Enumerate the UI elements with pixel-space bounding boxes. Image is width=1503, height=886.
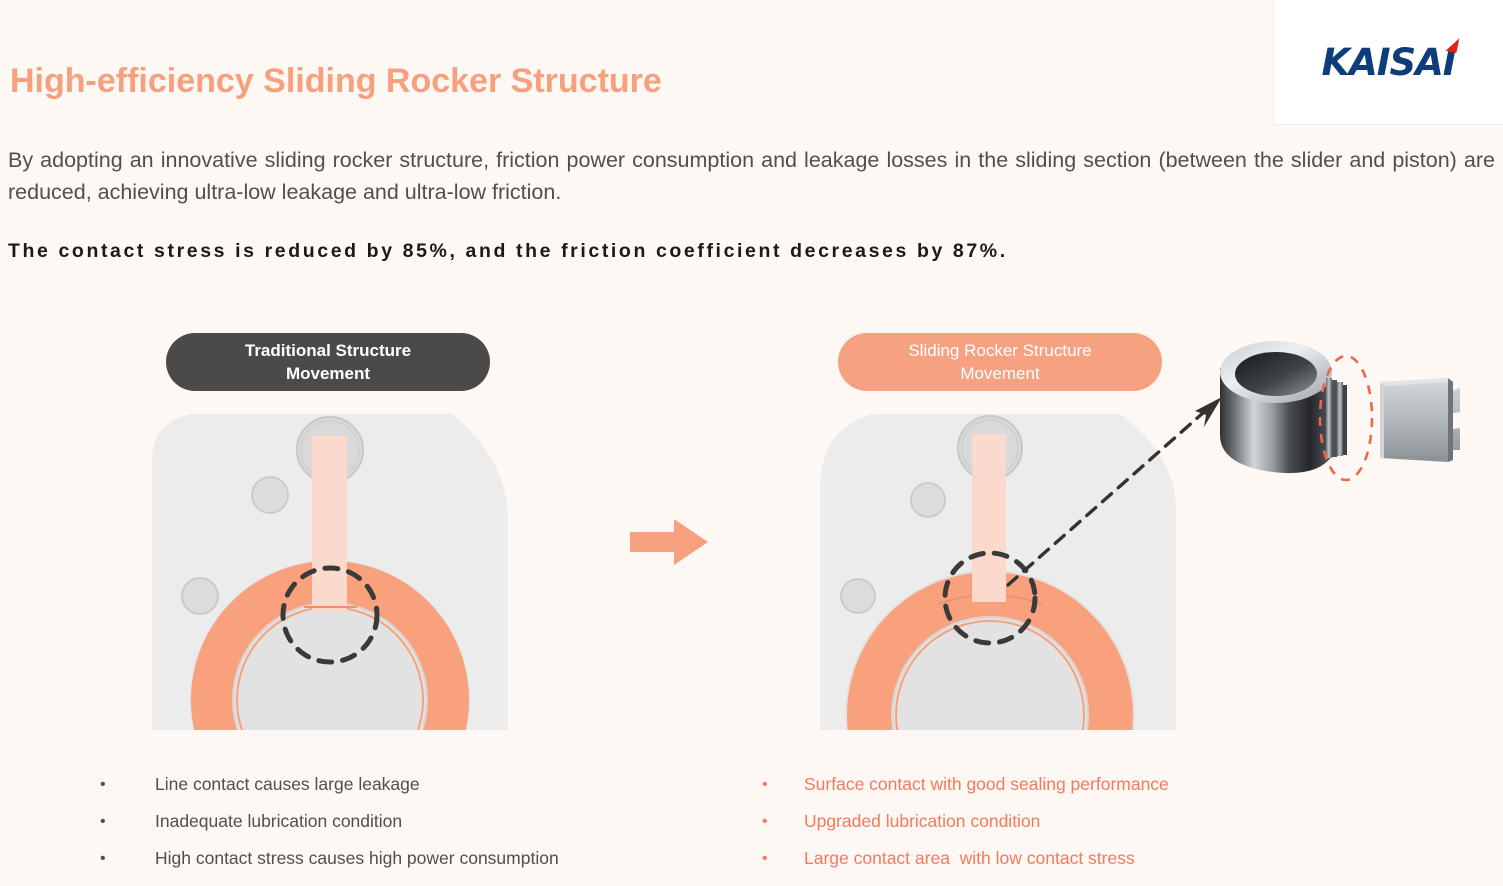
- bolt-hole-2: [841, 579, 875, 613]
- groove-feature: [1326, 378, 1347, 458]
- list-item-text: Surface contact with good sealing perfor…: [804, 766, 1169, 803]
- label-sliding-rocker-structure-text: Sliding Rocker Structure Movement: [908, 339, 1091, 385]
- list-item: • Upgraded lubrication condition: [762, 803, 1169, 840]
- page-title: High-efficiency Sliding Rocker Structure: [10, 62, 662, 101]
- list-item-text: Large contact area with low contact stre…: [804, 840, 1135, 877]
- bullet-marker-icon: •: [100, 766, 155, 803]
- logo-text: KAISAI: [1321, 41, 1455, 84]
- key-claim-text: The contact stress is reduced by 85%, an…: [8, 240, 1008, 263]
- label-traditional-structure: Traditional Structure Movement: [166, 333, 490, 391]
- traditional-structure-svg: [152, 400, 508, 730]
- diagram-traditional-structure: [152, 400, 508, 730]
- bullet-marker-icon: •: [100, 840, 155, 877]
- slide: KAISAI High-efficiency Sliding Rocker St…: [0, 0, 1503, 886]
- bushing-bore: [1235, 352, 1317, 396]
- bolt-hole-1: [911, 483, 945, 517]
- list-item: • Large contact area with low contact st…: [762, 840, 1169, 877]
- list-item: • Surface contact with good sealing perf…: [762, 766, 1169, 803]
- kaisai-logo-mark: KAISAI: [1321, 44, 1455, 81]
- bolt-hole-1: [252, 477, 288, 513]
- bullets-sliding-rocker: • Surface contact with good sealing perf…: [762, 766, 1169, 877]
- list-item-text: High contact stress causes high power co…: [155, 840, 559, 877]
- list-item-text: Inadequate lubrication condition: [155, 803, 402, 840]
- bullet-marker-icon: •: [100, 803, 155, 840]
- bolt-hole-2: [182, 578, 218, 614]
- piston-rod-front: [312, 436, 347, 612]
- transition-arrow-icon: [630, 518, 708, 566]
- bullet-marker-icon: •: [762, 766, 804, 803]
- dashed-leader-arrow-icon: [990, 385, 1230, 600]
- list-item: • Line contact causes large leakage: [100, 766, 559, 803]
- list-item: • High contact stress causes high power …: [100, 840, 559, 877]
- list-item-text: Line contact causes large leakage: [155, 766, 420, 803]
- logo-accent-tick-icon: [1445, 36, 1459, 53]
- bullet-marker-icon: •: [762, 803, 804, 840]
- list-item: • Inadequate lubrication condition: [100, 803, 559, 840]
- bullets-traditional: • Line contact causes large leakage • In…: [100, 766, 559, 877]
- cylinder-bushing-part-icon: [1198, 330, 1488, 490]
- list-item-text: Upgraded lubrication condition: [804, 803, 1040, 840]
- brand-logo: KAISAI: [1274, 0, 1503, 124]
- label-sliding-rocker-structure: Sliding Rocker Structure Movement: [838, 333, 1162, 391]
- bullet-marker-icon: •: [762, 840, 804, 877]
- intro-paragraph: By adopting an innovative sliding rocker…: [8, 144, 1495, 208]
- slider-plate: [1380, 378, 1460, 462]
- label-traditional-structure-text: Traditional Structure Movement: [245, 339, 411, 385]
